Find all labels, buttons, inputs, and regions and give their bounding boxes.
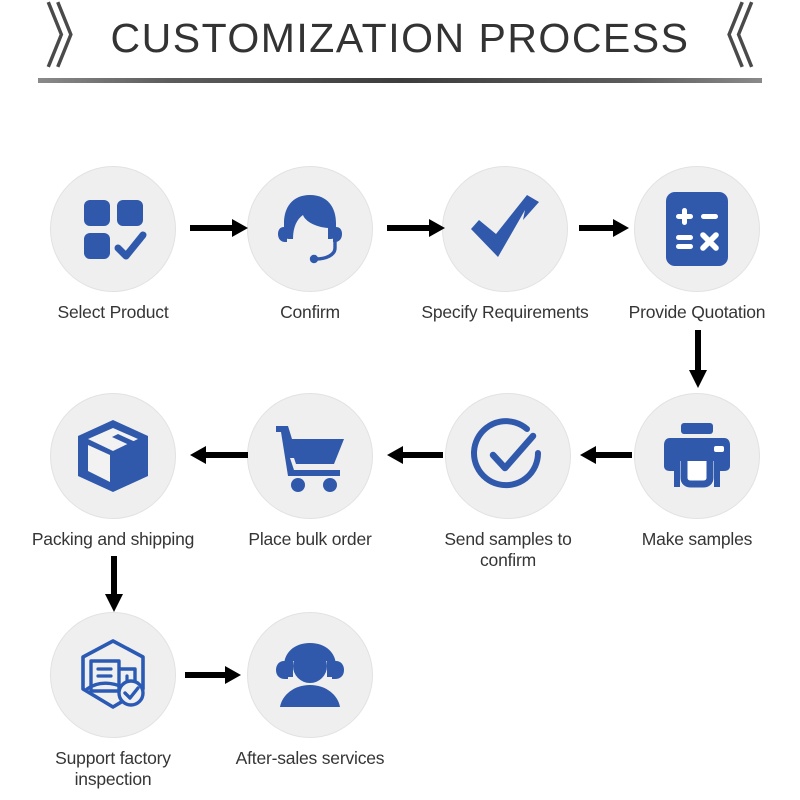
step-provide-quotation[interactable]: Provide Quotation bbox=[607, 166, 787, 323]
step-label: Specify Requirements bbox=[415, 302, 595, 323]
step-label: Packing and shipping bbox=[23, 529, 203, 550]
package-box-icon bbox=[74, 416, 152, 496]
step-icon-bubble bbox=[247, 166, 373, 292]
printer-icon bbox=[658, 421, 736, 491]
step-icon-bubble bbox=[634, 166, 760, 292]
step-select-product[interactable]: Select Product bbox=[23, 166, 203, 323]
step-label: After-sales services bbox=[220, 748, 400, 769]
step-label: Select Product bbox=[23, 302, 203, 323]
connector-arrow-left-3 bbox=[190, 443, 248, 467]
connector-arrow-down-1 bbox=[686, 330, 710, 388]
step-packing-shipping[interactable]: Packing and shipping bbox=[23, 393, 203, 550]
grid-check-icon bbox=[76, 192, 150, 266]
headset-agent-icon bbox=[271, 190, 349, 268]
calculator-icon bbox=[664, 190, 730, 268]
step-confirm[interactable]: Confirm bbox=[220, 166, 400, 323]
step-icon-bubble bbox=[50, 393, 176, 519]
step-icon-bubble bbox=[50, 612, 176, 738]
support-person-icon bbox=[270, 639, 350, 711]
chevron-left-decoration: 》 bbox=[45, 3, 105, 74]
title-row: 》 CUSTOMIZATION PROCESS 《 bbox=[0, 0, 800, 76]
step-label: Place bulk order bbox=[220, 529, 400, 550]
step-place-bulk-order[interactable]: Place bulk order bbox=[220, 393, 400, 550]
connector-arrow-right-1 bbox=[190, 216, 248, 240]
header-divider bbox=[38, 78, 762, 83]
connector-arrow-down-2 bbox=[102, 556, 126, 612]
step-send-samples[interactable]: Send samples to confirm bbox=[418, 393, 598, 571]
chevron-right-decoration: 《 bbox=[695, 3, 755, 74]
step-label: Confirm bbox=[220, 302, 400, 323]
step-icon-bubble bbox=[442, 166, 568, 292]
shopping-cart-icon bbox=[270, 420, 350, 492]
customization-process-infographic: 》 CUSTOMIZATION PROCESS 《 Select Product bbox=[0, 0, 800, 800]
step-icon-bubble bbox=[247, 393, 373, 519]
step-label: Provide Quotation bbox=[607, 302, 787, 323]
page-header: 》 CUSTOMIZATION PROCESS 《 bbox=[0, 0, 800, 96]
circle-check-icon bbox=[469, 417, 547, 495]
connector-arrow-right-2 bbox=[387, 216, 445, 240]
step-after-sales[interactable]: After-sales services bbox=[220, 612, 400, 769]
factory-inspection-icon bbox=[73, 635, 153, 715]
step-specify-requirements[interactable]: Specify Requirements bbox=[415, 166, 595, 323]
step-icon-bubble bbox=[634, 393, 760, 519]
step-icon-bubble bbox=[247, 612, 373, 738]
connector-arrow-left-1 bbox=[580, 443, 632, 467]
page-title: CUSTOMIZATION PROCESS bbox=[111, 15, 690, 62]
connector-arrow-right-3 bbox=[579, 216, 629, 240]
step-make-samples[interactable]: Make samples bbox=[607, 393, 787, 550]
step-label: Support factory inspection bbox=[23, 748, 203, 790]
connector-arrow-left-2 bbox=[387, 443, 443, 467]
step-label: Send samples to confirm bbox=[418, 529, 598, 571]
checkmark-icon bbox=[465, 189, 545, 269]
step-support-inspection[interactable]: Support factory inspection bbox=[23, 612, 203, 790]
step-label: Make samples bbox=[607, 529, 787, 550]
step-icon-bubble bbox=[445, 393, 571, 519]
step-icon-bubble bbox=[50, 166, 176, 292]
connector-arrow-right-4 bbox=[185, 663, 241, 687]
